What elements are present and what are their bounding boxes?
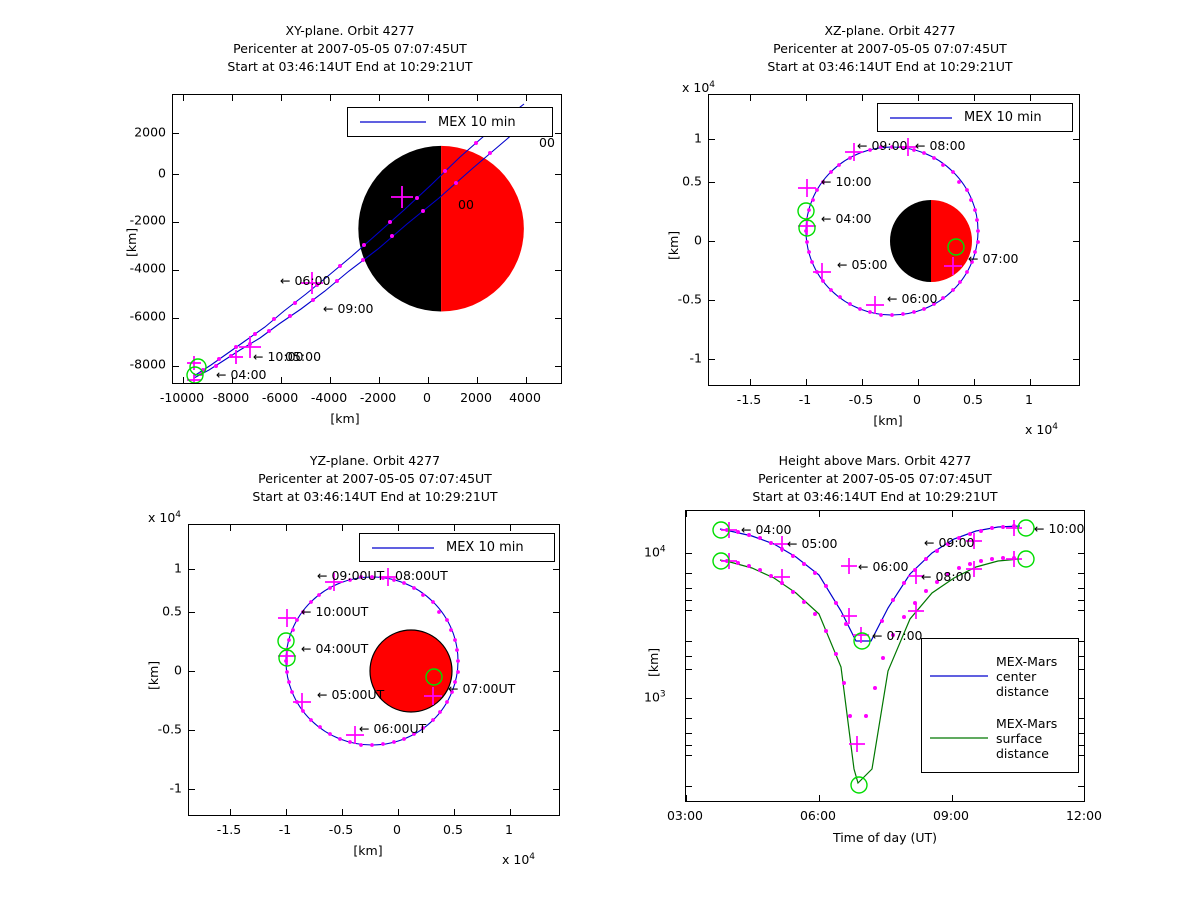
panel-xz-title: XZ-plane. Orbit 4277 Pericenter at 2007-… — [660, 22, 1120, 76]
xy-xtick-3: -4000 — [311, 390, 347, 405]
axis-tick — [510, 809, 511, 815]
axis-tick — [686, 669, 692, 670]
axis-tick — [173, 270, 179, 271]
axis-tick — [1030, 379, 1031, 385]
title-line-1: XZ-plane. Orbit 4277 — [660, 22, 1120, 40]
yz-xtick-1: -1 — [279, 822, 291, 837]
axis-tick — [686, 588, 692, 589]
xz-yaxis-exponent: x 104 — [682, 80, 715, 95]
axis-tick — [553, 671, 559, 672]
axis-tick — [230, 809, 231, 815]
axis-tick — [1078, 588, 1084, 589]
xz-xtick-4: 0.5 — [963, 392, 983, 407]
axis-tick — [173, 366, 179, 367]
annot-xy-08: 00 — [539, 135, 555, 150]
annot-xy-04: ← 04:00 — [216, 367, 266, 382]
axis-tick — [526, 377, 527, 383]
xy-xtick-4: -2000 — [360, 390, 396, 405]
axis-tick — [477, 95, 478, 101]
xy-ytick-3: -4000 — [110, 261, 166, 276]
annot-xy-09: ← 09:00 — [323, 301, 373, 316]
xz-xaxis-label: [km] — [873, 413, 902, 428]
xy-xtick-1: -8000 — [213, 390, 249, 405]
xy-ytick-1: 0 — [110, 166, 166, 181]
axis-tick — [918, 379, 919, 385]
axis-tick — [1030, 95, 1031, 101]
axis-tick — [819, 511, 820, 517]
xz-yexp-pow: 4 — [709, 80, 715, 90]
axis-tick — [173, 133, 179, 134]
axis-tick — [189, 612, 195, 613]
axis-tick — [1078, 718, 1084, 719]
height-ytick-1-pow: 3 — [660, 689, 666, 699]
annot-yz-05: ← 05:00UT — [317, 687, 384, 702]
height-ytick-1: 103 — [644, 689, 666, 704]
axis-tick — [974, 379, 975, 385]
annot-height-10: ← 10:00 — [1034, 521, 1084, 536]
xy-plot-area: ← 06:00 ← 09:00 ← 10:00 05:00 ← 04:00 00… — [172, 94, 562, 384]
xz-plot-area: ← 08:00 ← 09:00 ← 10:00 ← 04:00 ← 05:00 … — [708, 94, 1080, 386]
annot-yz-07: ← 07:00UT — [448, 681, 515, 696]
height-xtick-2: 09:00 — [933, 808, 969, 823]
xz-legend[interactable]: MEX 10 min — [877, 103, 1073, 132]
xz-xaxis-exponent: x 104 — [1025, 422, 1058, 437]
yz-ytick-4: -1 — [140, 781, 182, 796]
legend-entry-center: MEX-Mars center distance — [922, 645, 1078, 707]
yz-yaxis-exponent: x 104 — [148, 510, 181, 525]
axis-tick — [1073, 359, 1079, 360]
height-yaxis-label: [km] — [646, 648, 661, 677]
axis-tick — [952, 795, 953, 801]
panel-height-above-mars: Height above Mars. Orbit 4277 Pericenter… — [640, 452, 1110, 872]
yz-ytick-1: 0.5 — [140, 604, 182, 619]
legend-label-surface: MEX-Mars surface distance — [996, 716, 1057, 761]
axis-tick — [189, 569, 195, 570]
legend-entry-surface: MEX-Mars surface distance — [922, 707, 1078, 769]
axis-tick — [806, 95, 807, 101]
axis-tick — [1078, 733, 1084, 734]
xy-xtick-2: -6000 — [262, 390, 298, 405]
xz-legend-label: MEX 10 min — [964, 110, 1042, 125]
xz-xtick-0: -1.5 — [737, 392, 761, 407]
legend-surface-line-3: distance — [996, 746, 1057, 761]
xy-xaxis-label: [km] — [330, 411, 359, 426]
axis-tick — [686, 745, 692, 746]
axis-tick — [398, 809, 399, 815]
yz-xaxis-label: [km] — [353, 843, 382, 858]
axis-tick — [183, 377, 184, 383]
annot-xy-07: 00 — [458, 197, 474, 212]
axis-tick — [1078, 600, 1084, 601]
axis-tick — [286, 525, 287, 531]
xy-xtick-5: 0 — [423, 390, 431, 405]
axis-tick — [1078, 573, 1084, 574]
title-line-1: Height above Mars. Orbit 4277 — [640, 452, 1110, 470]
axis-tick — [686, 795, 687, 801]
axis-tick — [183, 95, 184, 101]
yz-xaxis-exponent: x 104 — [502, 852, 535, 867]
axis-tick — [189, 730, 195, 731]
axis-tick — [1078, 669, 1084, 670]
legend-line-swatch — [358, 116, 428, 128]
axis-tick — [974, 95, 975, 101]
yz-legend[interactable]: MEX 10 min — [359, 533, 555, 562]
legend-center-line-2: center — [996, 669, 1057, 684]
axis-tick — [1078, 553, 1084, 554]
axis-tick — [281, 377, 282, 383]
legend-center-line-1: MEX-Mars — [996, 654, 1057, 669]
annot-xz-10: ← 10:00 — [821, 174, 871, 189]
axis-tick — [477, 377, 478, 383]
annot-height-06: ← 06:00 — [858, 559, 908, 574]
height-ytick-0-pow: 4 — [660, 544, 666, 554]
height-xtick-3: 12:00 — [1066, 808, 1102, 823]
xz-xtick-1: -1 — [799, 392, 811, 407]
axis-tick — [232, 95, 233, 101]
height-ytick-0-base: 10 — [644, 545, 660, 560]
annot-xz-07: ← 07:00 — [968, 251, 1018, 266]
xz-ytick-3: -0.5 — [660, 292, 702, 307]
yz-xexp-base: x 10 — [502, 852, 529, 867]
axis-tick — [686, 755, 692, 756]
axis-tick — [379, 377, 380, 383]
legend-line-swatch — [888, 112, 954, 124]
axis-tick — [232, 377, 233, 383]
annot-xz-05: ← 05:00 — [837, 257, 887, 272]
yz-xtick-3: 0 — [393, 822, 401, 837]
axis-tick — [862, 379, 863, 385]
axis-tick — [686, 573, 692, 574]
axis-tick — [173, 174, 179, 175]
axis-tick — [553, 612, 559, 613]
axis-tick — [1078, 610, 1084, 611]
annot-xy-05: 05:00 — [285, 349, 321, 364]
axis-tick — [952, 511, 953, 517]
title-line-2: Pericenter at 2007-05-05 07:07:45UT — [110, 40, 590, 58]
height-ytick-1-base: 10 — [644, 690, 660, 705]
annot-height-05: ← 05:00 — [787, 536, 837, 551]
panel-xy-plane: XY-plane. Orbit 4277 Pericenter at 2007-… — [110, 22, 590, 432]
annot-xy-06: ← 06:00 — [280, 273, 330, 288]
axis-tick — [686, 718, 692, 719]
height-xtick-1: 06:00 — [800, 808, 836, 823]
annot-height-04: ← 04:00 — [741, 522, 791, 537]
axis-tick — [686, 656, 692, 657]
height-ytick-0: 104 — [644, 544, 666, 559]
yz-ytick-0: 1 — [140, 561, 182, 576]
xz-yexp-base: x 10 — [682, 80, 709, 95]
yz-legend-label: MEX 10 min — [446, 540, 524, 555]
legend-label-center: MEX-Mars center distance — [996, 654, 1057, 699]
annot-yz-06: ← 06:00UT — [359, 721, 426, 736]
title-line-3: Start at 03:46:14UT End at 10:29:21UT — [640, 488, 1110, 506]
axis-tick — [555, 318, 561, 319]
axis-tick — [555, 366, 561, 367]
center-distance-curve — [720, 526, 1020, 641]
height-legend[interactable]: MEX-Mars center distance MEX-Mars surfac… — [921, 638, 1079, 773]
xz-yaxis-label: [km] — [666, 231, 681, 260]
panel-xy-title: XY-plane. Orbit 4277 Pericenter at 2007-… — [110, 22, 590, 76]
axis-tick — [553, 730, 559, 731]
legend-center-line-3: distance — [996, 684, 1057, 699]
axis-tick — [555, 133, 561, 134]
axis-tick — [686, 698, 692, 699]
xy-ytick-2: -2000 — [110, 213, 166, 228]
axis-tick — [173, 222, 179, 223]
axis-tick — [553, 789, 559, 790]
axis-tick — [1073, 182, 1079, 183]
xz-xexp-pow: 4 — [1052, 422, 1058, 432]
axis-tick — [173, 318, 179, 319]
axis-tick — [709, 182, 715, 183]
axis-tick — [686, 786, 692, 787]
axis-tick — [750, 379, 751, 385]
yz-xtick-0: -1.5 — [217, 822, 241, 837]
axis-tick — [1073, 241, 1079, 242]
yz-plot-area: 08:00UT ← 09:00UT ← 10:00UT ← 04:00UT ← … — [188, 524, 560, 816]
yz-yaxis-label: [km] — [146, 661, 161, 690]
axis-tick — [1078, 656, 1084, 657]
title-line-2: Pericenter at 2007-05-05 07:07:45UT — [140, 470, 610, 488]
title-line-3: Start at 03:46:14UT End at 10:29:21UT — [660, 58, 1120, 76]
xy-yaxis-label: [km] — [124, 228, 139, 257]
axis-tick — [819, 795, 820, 801]
axis-tick — [553, 569, 559, 570]
panel-yz-plane: YZ-plane. Orbit 4277 Pericenter at 2007-… — [140, 452, 610, 872]
axis-tick — [454, 809, 455, 815]
axis-tick — [1073, 300, 1079, 301]
annot-height-07: ← 07:00 — [872, 628, 922, 643]
axis-tick — [686, 553, 692, 554]
xy-legend-label: MEX 10 min — [438, 115, 516, 130]
axis-tick — [686, 511, 687, 517]
height-xtick-0: 03:00 — [667, 808, 703, 823]
axis-tick — [686, 733, 692, 734]
axis-tick — [806, 379, 807, 385]
axis-tick — [526, 95, 527, 101]
axis-tick — [379, 95, 380, 101]
title-line-3: Start at 03:46:14UT End at 10:29:21UT — [110, 58, 590, 76]
axis-tick — [454, 525, 455, 531]
legend-line-swatch-surface — [928, 732, 990, 744]
axis-tick — [189, 789, 195, 790]
mars-globe-xz — [890, 200, 972, 282]
axis-tick — [555, 222, 561, 223]
axis-tick — [750, 95, 751, 101]
annot-yz-09: ← 09:00UT — [317, 568, 384, 583]
xy-xtick-0: -10000 — [160, 390, 204, 405]
axis-tick — [189, 671, 195, 672]
title-line-3: Start at 03:46:14UT End at 10:29:21UT — [140, 488, 610, 506]
xz-ytick-1: 0.5 — [660, 174, 702, 189]
annot-height-08: ← 08:00 — [921, 569, 971, 584]
axis-tick — [686, 610, 692, 611]
yz-xexp-pow: 4 — [529, 852, 535, 862]
yz-xtick-2: -0.5 — [329, 822, 353, 837]
yz-xtick-4: 0.5 — [443, 822, 463, 837]
annot-xz-06: ← 06:00 — [887, 291, 937, 306]
height-xaxis-label: Time of day (UT) — [833, 830, 937, 845]
axis-tick — [330, 95, 331, 101]
legend-surface-line-1: MEX-Mars — [996, 716, 1057, 731]
annot-xz-09: ← 09:00 — [857, 138, 907, 153]
axis-tick — [686, 641, 692, 642]
xy-ytick-0: 2000 — [110, 125, 166, 140]
height-plot-area: ← 04:00 ← 05:00 ← 06:00 ← 07:00 ← 08:00 … — [685, 510, 1085, 802]
xy-ytick-4: -6000 — [110, 309, 166, 324]
yz-yexp-base: x 10 — [148, 510, 175, 525]
legend-line-swatch-center — [928, 670, 990, 682]
axis-tick — [428, 377, 429, 383]
xz-xtick-2: -0.5 — [849, 392, 873, 407]
xy-legend[interactable]: MEX 10 min — [347, 107, 553, 137]
axis-tick — [1078, 698, 1084, 699]
annot-yz-10: ← 10:00UT — [301, 604, 368, 619]
axis-tick — [230, 525, 231, 531]
title-line-1: XY-plane. Orbit 4277 — [110, 22, 590, 40]
axis-tick — [918, 95, 919, 101]
axis-tick — [709, 139, 715, 140]
title-line-2: Pericenter at 2007-05-05 07:07:45UT — [660, 40, 1120, 58]
xy-xtick-7: 4000 — [509, 390, 541, 405]
annot-xz-04: ← 04:00 — [821, 211, 871, 226]
annot-yz-08: 08:00UT — [395, 568, 448, 583]
annot-yz-04: ← 04:00UT — [301, 641, 368, 656]
axis-tick — [1078, 786, 1084, 787]
axis-tick — [342, 809, 343, 815]
xz-xtick-3: 0 — [913, 392, 921, 407]
axis-tick — [281, 95, 282, 101]
figure-root: XY-plane. Orbit 4277 Pericenter at 2007-… — [0, 0, 1200, 900]
axis-tick — [862, 95, 863, 101]
axis-tick — [1078, 745, 1084, 746]
panel-yz-title: YZ-plane. Orbit 4277 Pericenter at 2007-… — [140, 452, 610, 506]
xz-xexp-base: x 10 — [1025, 422, 1052, 437]
annot-height-09: ← 09:00 — [924, 535, 974, 550]
axis-tick — [342, 525, 343, 531]
axis-tick — [1078, 755, 1084, 756]
xy-plot-svg — [173, 95, 562, 384]
axis-tick — [555, 174, 561, 175]
axis-tick — [686, 600, 692, 601]
axis-tick — [709, 241, 715, 242]
xy-ytick-5: -8000 — [110, 357, 166, 372]
axis-tick — [709, 300, 715, 301]
axis-tick — [555, 270, 561, 271]
axis-tick — [428, 95, 429, 101]
annot-xz-08: ← 08:00 — [915, 138, 965, 153]
axis-tick — [1078, 641, 1084, 642]
axis-tick — [1073, 139, 1079, 140]
title-line-1: YZ-plane. Orbit 4277 — [140, 452, 610, 470]
legend-line-swatch — [370, 542, 436, 554]
title-line-2: Pericenter at 2007-05-05 07:07:45UT — [640, 470, 1110, 488]
xy-xtick-6: 2000 — [460, 390, 492, 405]
legend-surface-line-2: surface — [996, 731, 1057, 746]
panel-xz-plane: XZ-plane. Orbit 4277 Pericenter at 2007-… — [660, 22, 1120, 442]
panel-height-title: Height above Mars. Orbit 4277 Pericenter… — [640, 452, 1110, 506]
xz-ytick-0: 1 — [660, 131, 702, 146]
axis-tick — [510, 525, 511, 531]
yz-yexp-pow: 4 — [175, 510, 181, 520]
xz-xtick-5: 1 — [1025, 392, 1033, 407]
axis-tick — [709, 359, 715, 360]
xz-ytick-4: -1 — [660, 351, 702, 366]
axis-tick — [330, 377, 331, 383]
yz-ytick-3: -0.5 — [140, 722, 182, 737]
axis-tick — [286, 809, 287, 815]
yz-xtick-5: 1 — [505, 822, 513, 837]
axis-tick — [398, 525, 399, 531]
